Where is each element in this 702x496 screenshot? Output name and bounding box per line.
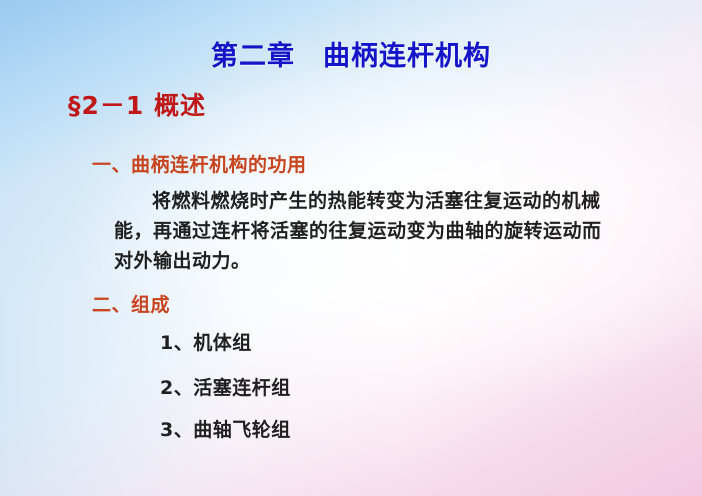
list-item: 2、活塞连杆组	[160, 373, 291, 400]
list-item: 1、机体组	[160, 328, 252, 355]
slide-canvas: 第二章 曲柄连杆机构 §2－1 概述 一、曲柄连杆机构的功用 将燃料燃烧时产生的…	[0, 0, 702, 496]
slide-content-layer: 第二章 曲柄连杆机构 §2－1 概述 一、曲柄连杆机构的功用 将燃料燃烧时产生的…	[0, 0, 702, 496]
subheading-composition: 二、组成	[92, 290, 170, 317]
page-title: 第二章 曲柄连杆机构	[0, 34, 702, 73]
list-item: 3、曲轴飞轮组	[160, 415, 291, 442]
section-heading: §2－1 概述	[68, 86, 206, 122]
subheading-function: 一、曲柄连杆机构的功用	[92, 150, 307, 177]
body-paragraph: 将燃料燃烧时产生的热能转变为活塞往复运动的机械能，再通过连杆将活塞的往复运动变为…	[114, 186, 614, 276]
